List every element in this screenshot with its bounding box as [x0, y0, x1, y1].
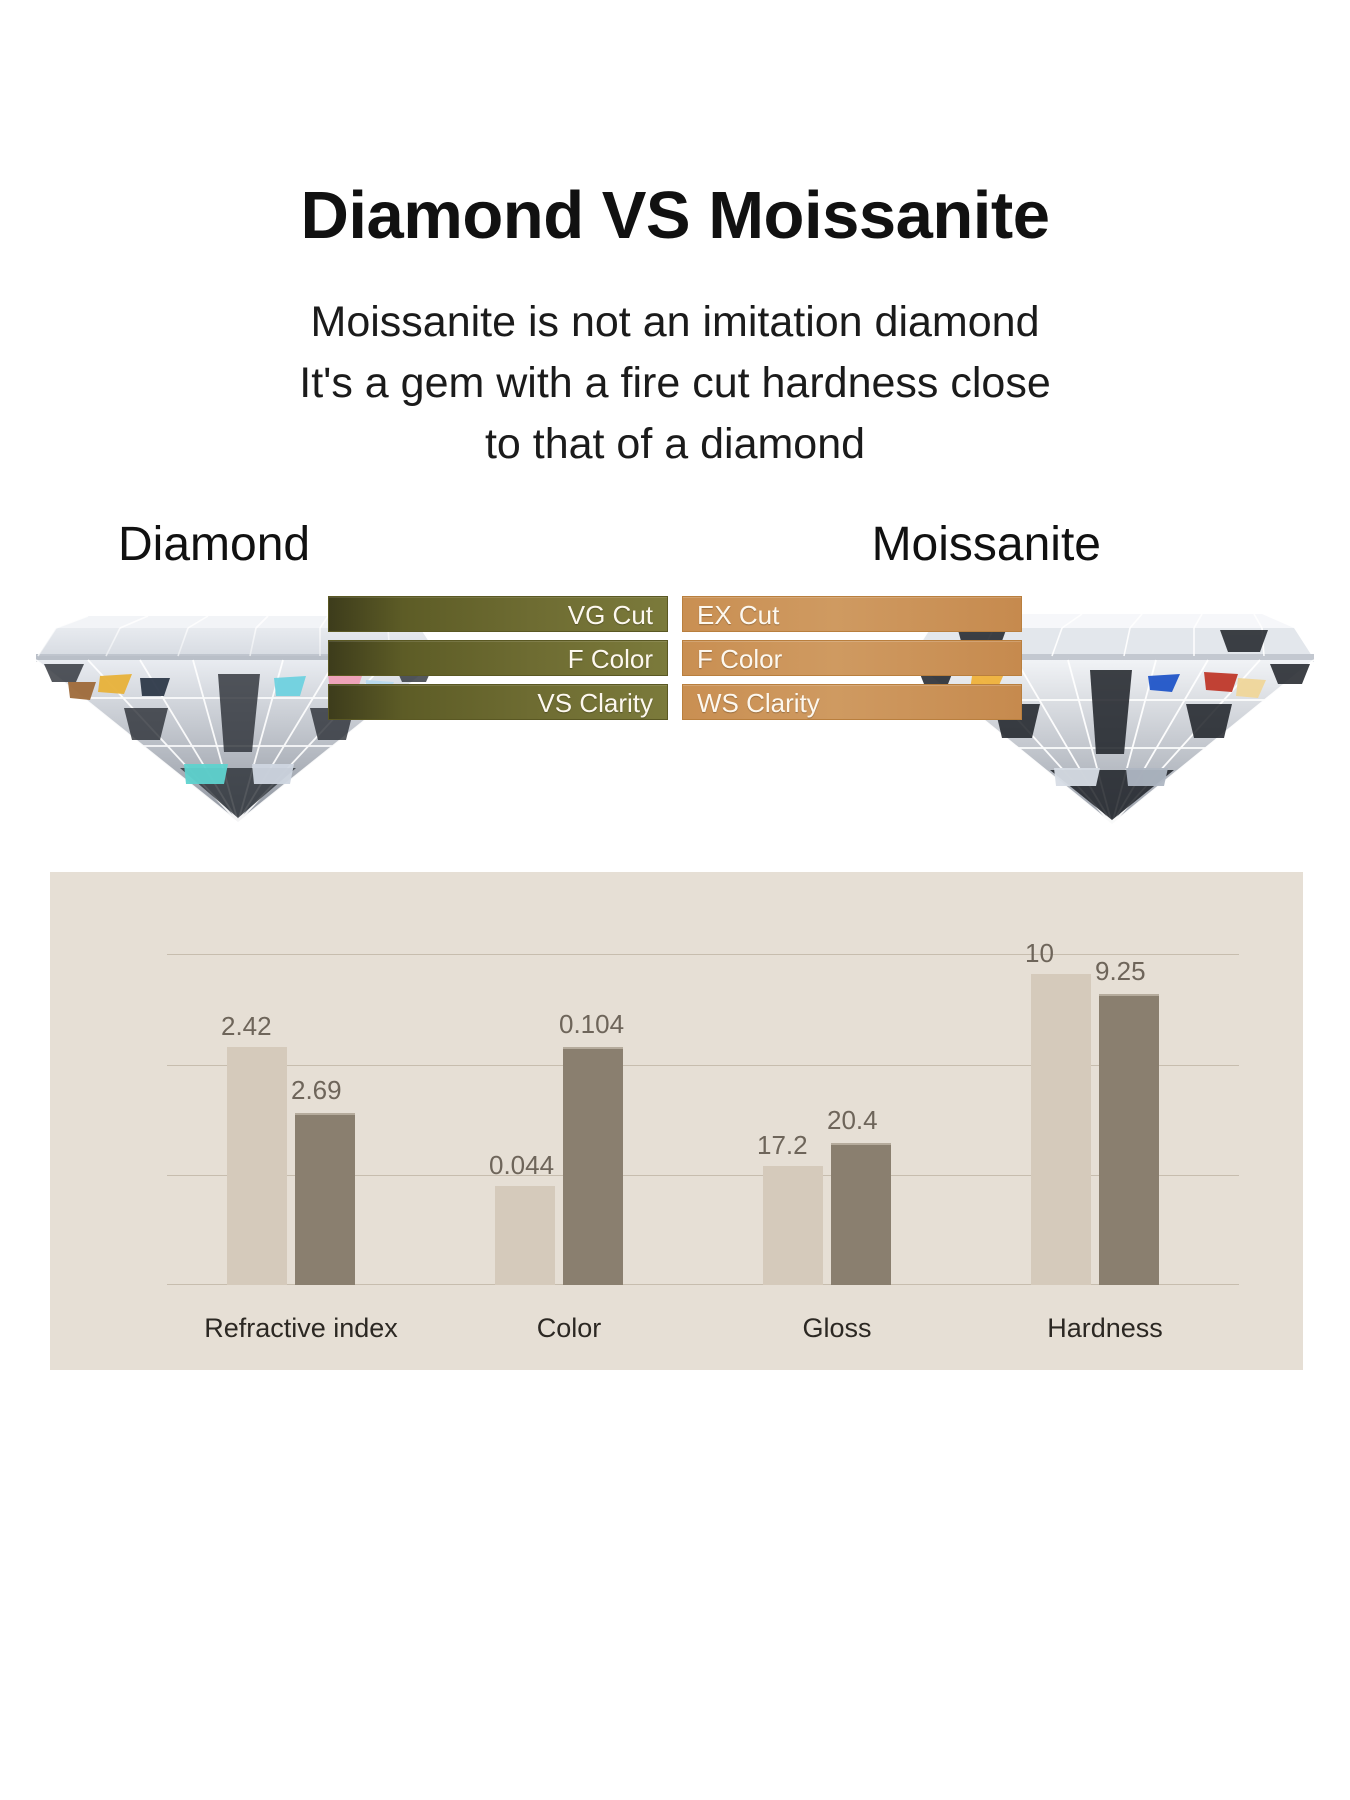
bar-moissanite-hardness [1099, 994, 1159, 1285]
bar-label-diamond-color: 0.044 [489, 1152, 554, 1178]
bar-label-diamond-refractive-index: 2.42 [221, 1013, 272, 1039]
infographic-page: Diamond VS Moissanite Moissanite is not … [0, 0, 1350, 1800]
subtitle-line-2: It's a gem with a fire cut hardness clos… [0, 353, 1350, 414]
bar-diamond-color [495, 1186, 555, 1285]
diamond-image [28, 578, 448, 828]
chart-xlabel-hardness: Hardness [971, 1315, 1239, 1342]
bar-label-diamond-hardness: 10 [1025, 940, 1054, 966]
bar-moissanite-gloss [831, 1143, 891, 1285]
diamond-heading: Diamond [118, 521, 310, 569]
bar-label-moissanite-hardness: 9.25 [1095, 958, 1146, 984]
subtitle-line-3: to that of a diamond [0, 414, 1350, 475]
bar-diamond-refractive-index [227, 1047, 287, 1285]
bar-diamond-gloss [763, 1166, 823, 1285]
bar-label-moissanite-refractive-index: 2.69 [291, 1077, 342, 1103]
bar-label-moissanite-color: 0.104 [559, 1011, 624, 1037]
bar-label-diamond-gloss: 17.2 [757, 1132, 808, 1158]
page-title: Diamond VS Moissanite [0, 182, 1350, 249]
chart-xlabel-gloss: Gloss [703, 1315, 971, 1342]
chart-gridline [167, 954, 1239, 955]
comparison-bar-chart: 2.422.69Refractive index0.0440.104Color1… [50, 872, 1303, 1370]
bar-label-moissanite-gloss: 20.4 [827, 1107, 878, 1133]
page-subtitle: Moissanite is not an imitation diamond I… [0, 292, 1350, 475]
bar-moissanite-color [563, 1047, 623, 1285]
chart-xlabel-color: Color [435, 1315, 703, 1342]
chart-plot-area: 2.422.69Refractive index0.0440.104Color1… [167, 954, 1239, 1285]
bar-diamond-hardness [1031, 974, 1091, 1285]
moissanite-heading: Moissanite [872, 521, 1101, 569]
subtitle-line-1: Moissanite is not an imitation diamond [0, 292, 1350, 353]
bar-moissanite-refractive-index [295, 1113, 355, 1285]
chart-xlabel-refractive-index: Refractive index [167, 1315, 435, 1342]
moissanite-image [902, 578, 1322, 828]
